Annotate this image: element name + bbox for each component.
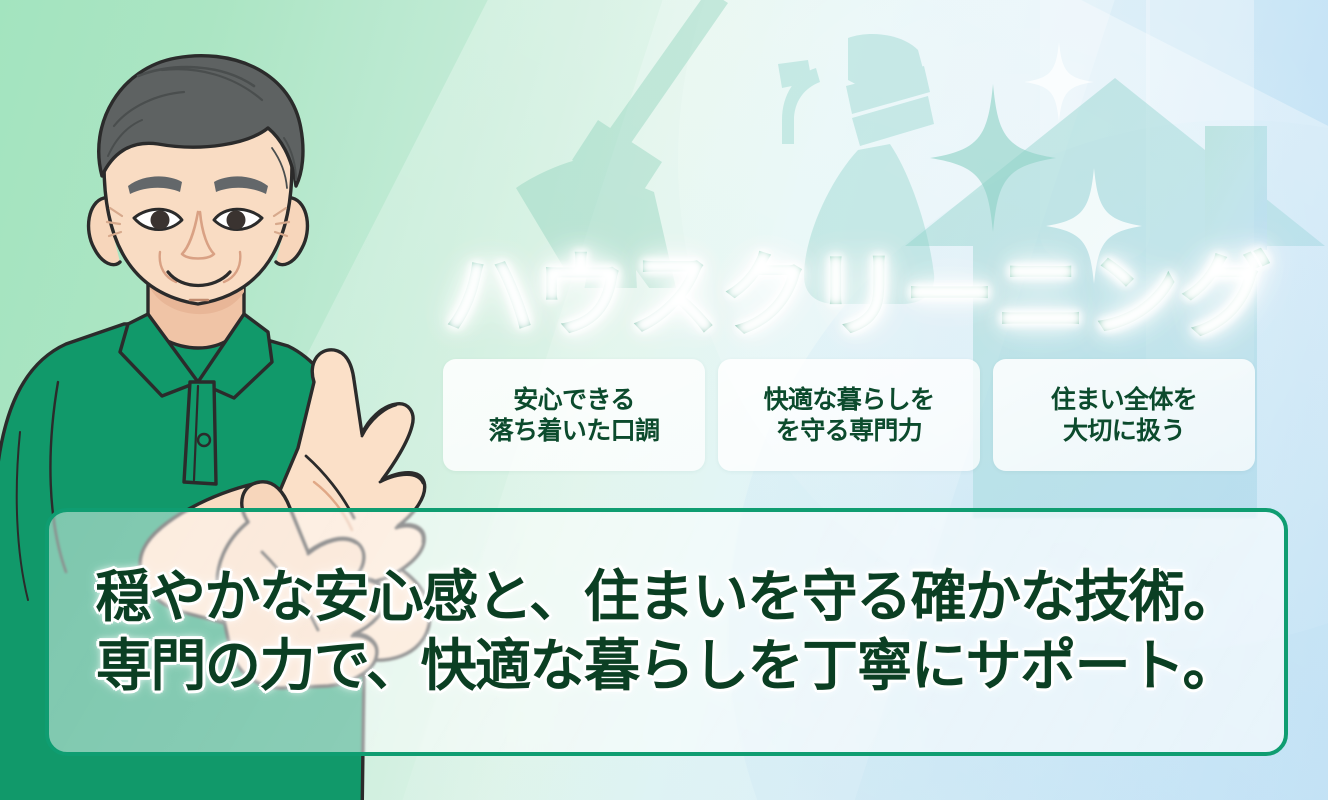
page-title: ハウスクリーニング: [443, 231, 1273, 343]
feature-badge[interactable]: 快適な暮らしを を守る専門力: [718, 359, 980, 471]
message-line-2: 専門の力で、快適な暮らしを丁寧にサポート。: [96, 634, 1237, 699]
message-line-1: 穏やかな安心感と、住まいを守る確かな技術。: [95, 565, 1237, 630]
feature-badge-list: 安心できる 落ち着いた口調 快適な暮らしを を守る専門力 住まい全体を 大切に扱…: [443, 359, 1255, 471]
feature-badge-line1: 住まい全体を: [1051, 386, 1197, 416]
feature-badge[interactable]: 安心できる 落ち着いた口調: [443, 359, 705, 471]
page-title-text: ハウスクリーニング: [443, 220, 1271, 355]
feature-badge-line1: 快適な暮らしを: [764, 386, 935, 416]
feature-badge-line1: 安心できる: [513, 386, 635, 416]
feature-badge-line2: 落ち着いた口調: [489, 417, 660, 447]
feature-badge-line2: を守る専門力: [776, 417, 922, 447]
feature-badge-line2: 大切に扱う: [1063, 417, 1185, 447]
message-panel: 穏やかな安心感と、住まいを守る確かな技術。 専門の力で、快適な暮らしを丁寧にサポ…: [45, 508, 1288, 756]
sparkle-icon: [930, 84, 1056, 232]
house-cleaning-banner: ハウスクリーニング 安心できる 落ち着いた口調 快適な暮らしを を守る専門力 住…: [0, 0, 1328, 800]
feature-badge[interactable]: 住まい全体を 大切に扱う: [993, 359, 1255, 471]
